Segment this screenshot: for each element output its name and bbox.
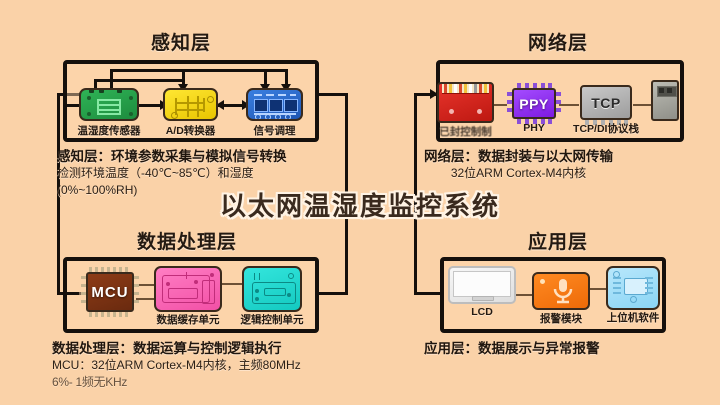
component-temp-humidity-sensor[interactable]: 温湿度传感器 bbox=[79, 88, 139, 121]
mcu-chip-text: MCU bbox=[88, 274, 132, 310]
application-wire-alarm-host bbox=[590, 288, 606, 290]
network-wire-tcp-rj45 bbox=[633, 104, 651, 106]
caption-data-processing-bold: 数据处理层：数据运算与控制逻辑执行 bbox=[52, 340, 301, 357]
caption-perception-bold: 感知层：环境参数采集与模拟信号转换 bbox=[57, 148, 287, 165]
phy-chip-body: PPY bbox=[512, 88, 556, 119]
ethernet-module-body bbox=[437, 82, 494, 123]
component-label-alarm-module: 报警模块 bbox=[540, 311, 582, 326]
connector-mid-top-stub bbox=[318, 93, 348, 96]
layer-title-data-processing: 数据处理层 bbox=[137, 227, 237, 254]
caption-application-bold: 应用层：数据展示与异常报警 bbox=[424, 340, 600, 357]
caption-network-line1: 32位ARM Cortex-M4内核 bbox=[424, 165, 613, 182]
component-label-logic-control-unit: 逻辑控制单元 bbox=[241, 312, 304, 327]
component-lcd[interactable]: LCD bbox=[448, 266, 516, 311]
diagram-canvas: 感知层 温湿度传感器 bbox=[0, 0, 720, 405]
component-data-buffer-unit[interactable]: 数据缓存单元 bbox=[154, 266, 222, 312]
alarm-module-body bbox=[532, 272, 590, 310]
component-label-lcd: LCD bbox=[471, 306, 493, 318]
layer-title-application: 应用层 bbox=[528, 227, 588, 254]
lcd-body bbox=[448, 266, 516, 304]
caption-perception-line1: 检测环境温度（-40℃~85℃）和湿度 bbox=[57, 165, 287, 182]
page-title: 以太网温湿度监控系统 bbox=[0, 186, 720, 223]
temp-humidity-sensor-board bbox=[79, 88, 139, 121]
component-alarm-module[interactable]: 报警模块 bbox=[532, 272, 590, 310]
microphone-icon bbox=[534, 274, 590, 308]
logic-control-unit-board bbox=[242, 266, 302, 312]
component-signal-conditioning[interactable]: 信号调理 bbox=[246, 88, 303, 121]
caption-network-bold: 网络层：数据封装与以太网传输 bbox=[424, 148, 613, 165]
component-logic-control-unit[interactable]: 逻辑控制单元 bbox=[242, 266, 302, 312]
phy-chip-text: PPY bbox=[514, 90, 554, 117]
component-tcp-stack[interactable]: TCP TCP/DI协议栈 bbox=[580, 85, 632, 120]
data-buffer-unit-board bbox=[154, 266, 222, 312]
data-processing-wire-in bbox=[63, 292, 79, 295]
perception-feedback-bus bbox=[110, 69, 286, 72]
network-wire-eth-phy bbox=[493, 104, 507, 106]
layer-title-perception: 感知层 bbox=[151, 28, 211, 55]
rj45-connector-body bbox=[651, 80, 679, 121]
host-software-board bbox=[606, 266, 660, 310]
component-host-software[interactable]: 上位机软件 bbox=[606, 266, 660, 310]
caption-data-processing-line2: 6%- 1频无KHz bbox=[52, 374, 301, 391]
network-wire-phy-tcp bbox=[559, 104, 579, 106]
component-label-ethernet-module: 已封控制制 bbox=[439, 124, 492, 139]
component-label-host-software: 上位机软件 bbox=[607, 310, 660, 325]
connector-mid-bottom-stub bbox=[318, 292, 348, 295]
caption-data-processing-line1: MCU：32位ARM Cortex-M4内核，主频80MHz bbox=[52, 357, 301, 374]
tcp-stack-body: TCP bbox=[580, 85, 632, 120]
caption-network: 网络层：数据封装与以太网传输 32位ARM Cortex-M4内核 bbox=[424, 148, 613, 182]
component-label-temp-humidity-sensor: 温湿度传感器 bbox=[78, 123, 141, 138]
component-label-data-buffer-unit: 数据缓存单元 bbox=[157, 312, 220, 327]
application-wire-lcd-alarm bbox=[516, 294, 532, 296]
component-ethernet-module[interactable]: 已封控制制 bbox=[437, 82, 494, 123]
component-label-phy-chip: PHY bbox=[523, 122, 545, 134]
component-mcu[interactable]: MCU bbox=[86, 272, 134, 312]
component-phy-chip[interactable]: PPY PHY bbox=[512, 88, 556, 119]
application-wire-in bbox=[426, 292, 442, 295]
mcu-body: MCU bbox=[86, 272, 134, 312]
ad-converter-board bbox=[163, 88, 218, 121]
signal-conditioning-board bbox=[246, 88, 303, 121]
data-processing-wire-buffer-logic bbox=[222, 283, 242, 285]
caption-data-processing: 数据处理层：数据运算与控制逻辑执行 MCU：32位ARM Cortex-M4内核… bbox=[52, 340, 301, 391]
component-ad-converter[interactable]: A/D转换器 bbox=[163, 88, 218, 121]
component-rj45-connector[interactable] bbox=[651, 80, 679, 121]
caption-application: 应用层：数据展示与异常报警 bbox=[424, 340, 600, 357]
tcp-chip-text: TCP bbox=[582, 87, 630, 118]
component-label-ad-converter: A/D转换器 bbox=[166, 123, 216, 138]
layer-title-network: 网络层 bbox=[528, 28, 588, 55]
component-label-signal-conditioning: 信号调理 bbox=[254, 123, 296, 138]
perception-feedback-inner-bus bbox=[94, 79, 184, 82]
component-label-tcp-stack: TCP/DI协议栈 bbox=[573, 121, 639, 136]
